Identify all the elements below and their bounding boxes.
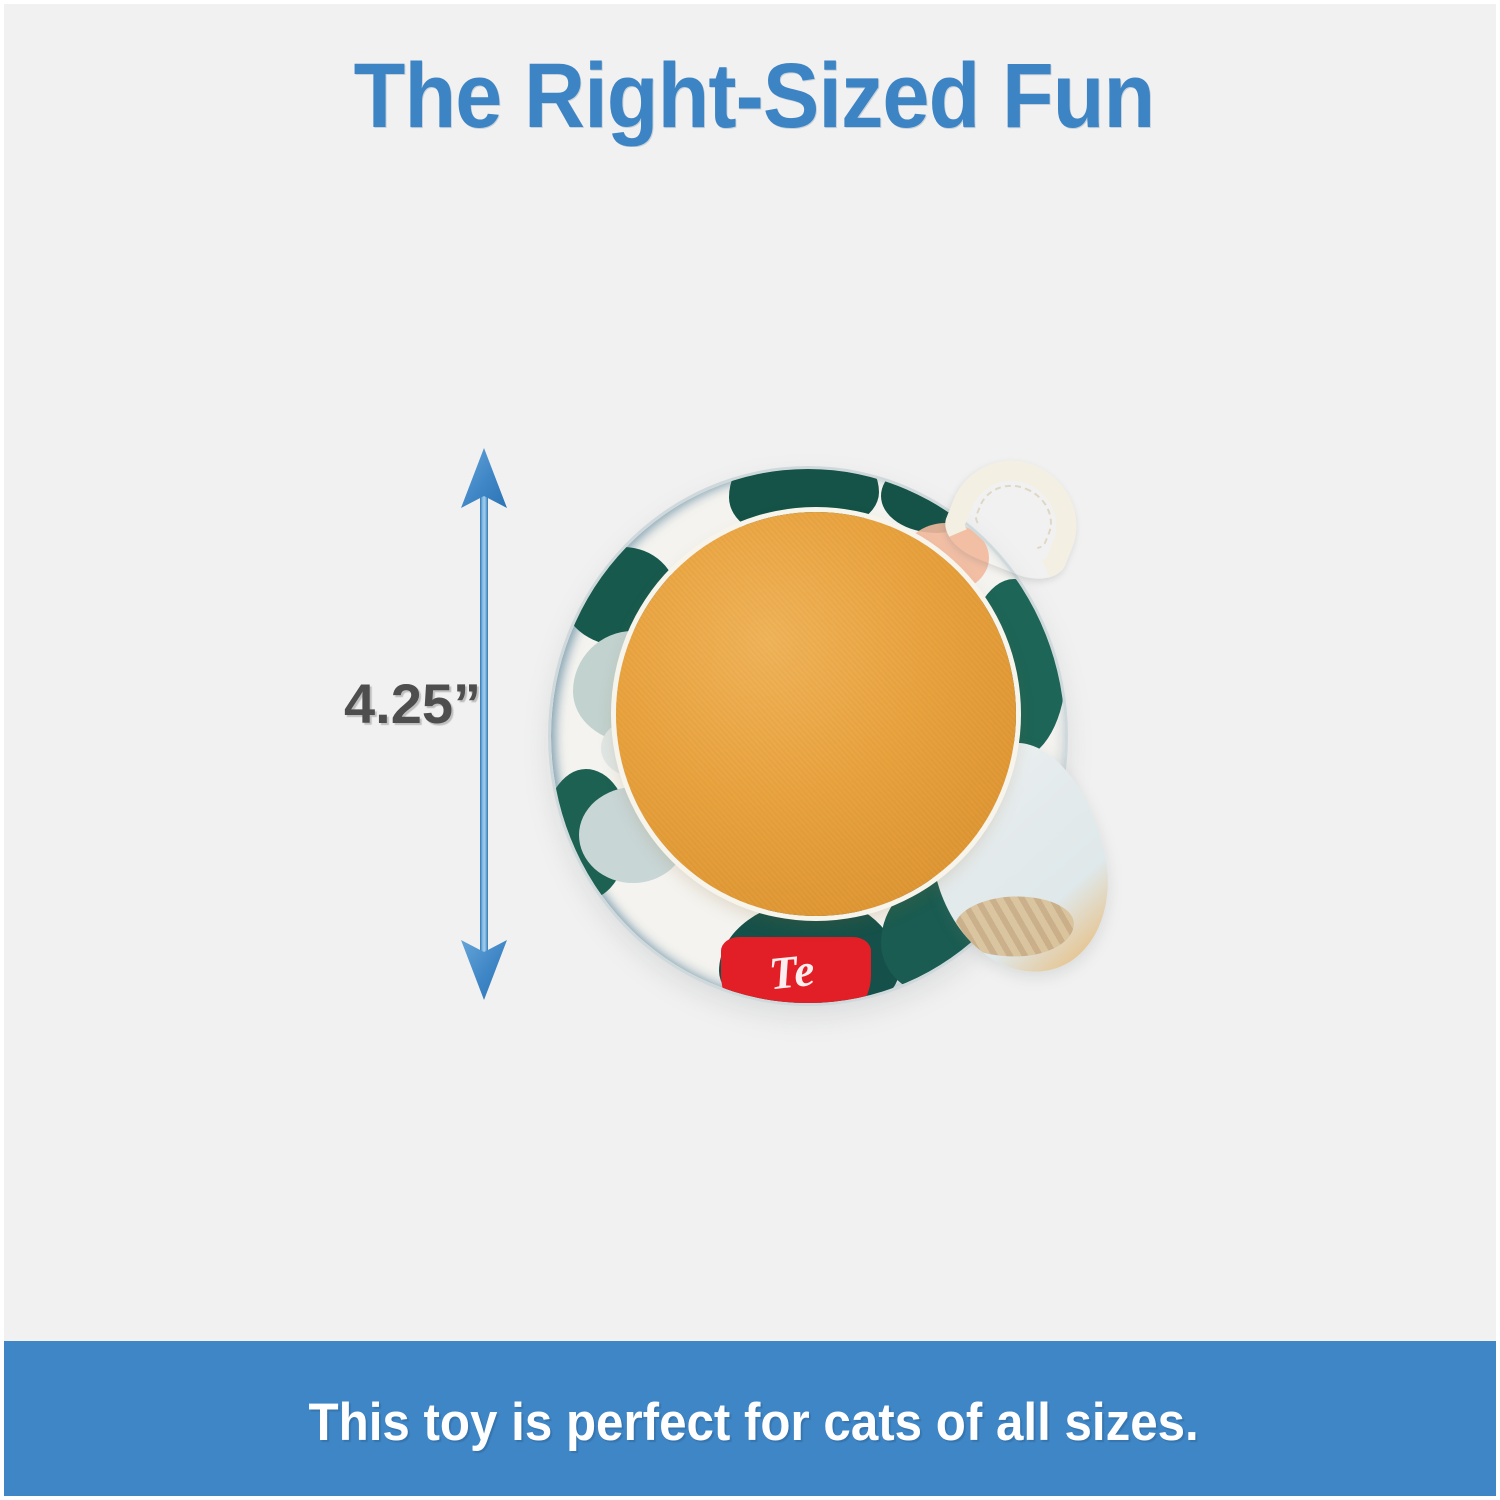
caption-text: This toy is perfect for cats of all size…	[309, 1392, 1199, 1453]
orange-tea-circle	[616, 512, 1016, 916]
red-tea-tag: Te	[721, 937, 871, 1006]
tea-tag-text: Te	[766, 943, 818, 1001]
dimension-label: 4.25”	[344, 676, 476, 732]
product-stage: 4.25” Te	[4, 4, 1500, 1341]
product-image: Te	[534, 444, 1114, 1024]
caption-banner: This toy is perfect for cats of all size…	[4, 1341, 1500, 1500]
infographic-card: The Right-Sized Fun	[0, 0, 1500, 1500]
